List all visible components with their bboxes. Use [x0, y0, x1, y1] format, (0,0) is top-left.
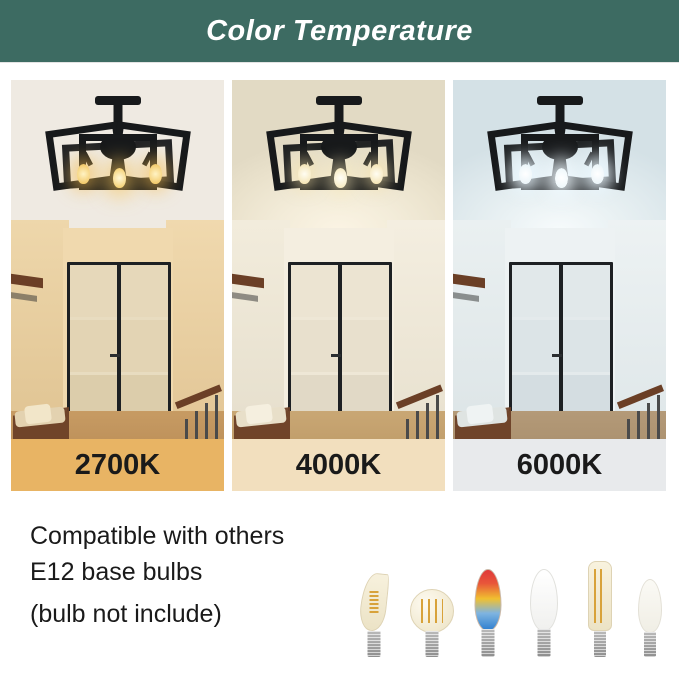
pillow — [24, 403, 52, 424]
clear-candle-bulb — [632, 573, 668, 657]
label-strip-6000k: 6000K — [453, 439, 666, 491]
entry-door — [509, 262, 613, 430]
door-handle — [110, 354, 120, 357]
compat-line-2: E12 base bulbs — [30, 558, 202, 587]
door-handle — [552, 354, 562, 357]
card-6000k: 6000K — [453, 80, 666, 491]
header-banner: Color Temperature — [0, 0, 679, 62]
label-strip-4000k: 4000K — [232, 439, 445, 491]
card-2700k: 2700K — [11, 80, 224, 491]
door-mullion — [117, 265, 121, 427]
label-strip-2700k: 2700K — [11, 439, 224, 491]
entry-door — [67, 262, 171, 430]
fixture-bulb-center — [555, 168, 568, 188]
pillow — [245, 403, 273, 424]
wall-left — [232, 220, 290, 430]
entry-door — [288, 262, 392, 430]
fixture-bulb-center — [334, 168, 347, 188]
scene-6000k — [453, 80, 666, 491]
label-4000k: 4000K — [296, 449, 381, 482]
flame-tip-filament-bulb — [352, 571, 396, 657]
wall-left — [453, 220, 511, 430]
fixture-bulb-right — [591, 164, 604, 184]
header-divider — [0, 62, 679, 63]
card-4000k: 4000K — [232, 80, 445, 491]
fixture-bulb-left — [519, 164, 532, 184]
rgb-color-changing-bulb — [466, 565, 510, 657]
scene-2700k — [11, 80, 224, 491]
page-title: Color Temperature — [206, 15, 473, 48]
tubular-filament-bulb — [580, 559, 620, 657]
compat-line-3: (bulb not include) — [30, 600, 222, 629]
frosted-candle-bulb — [522, 565, 566, 657]
label-6000k: 6000K — [517, 449, 602, 482]
fixture-bulb-right — [149, 164, 162, 184]
fixture-bulb-left — [298, 164, 311, 184]
globe-filament-bulb — [408, 571, 456, 657]
door-handle — [331, 354, 341, 357]
compatible-bulbs-row — [352, 552, 668, 657]
scene-4000k — [232, 80, 445, 491]
light-fixture-6000k — [475, 90, 645, 235]
light-fixture-2700k — [33, 90, 203, 235]
light-fixture-4000k — [254, 90, 424, 235]
pillow — [466, 403, 494, 424]
label-2700k: 2700K — [75, 449, 160, 482]
fixture-bulb-right — [370, 164, 383, 184]
fixture-bulb-center — [113, 168, 126, 188]
compat-line-1: Compatible with others — [30, 522, 284, 551]
wall-left — [11, 220, 69, 430]
door-mullion — [338, 265, 342, 427]
color-temperature-cards: 2700K — [11, 80, 668, 491]
product-infographic: Color Temperature — [0, 0, 679, 679]
fixture-bulb-left — [77, 164, 90, 184]
door-mullion — [559, 265, 563, 427]
